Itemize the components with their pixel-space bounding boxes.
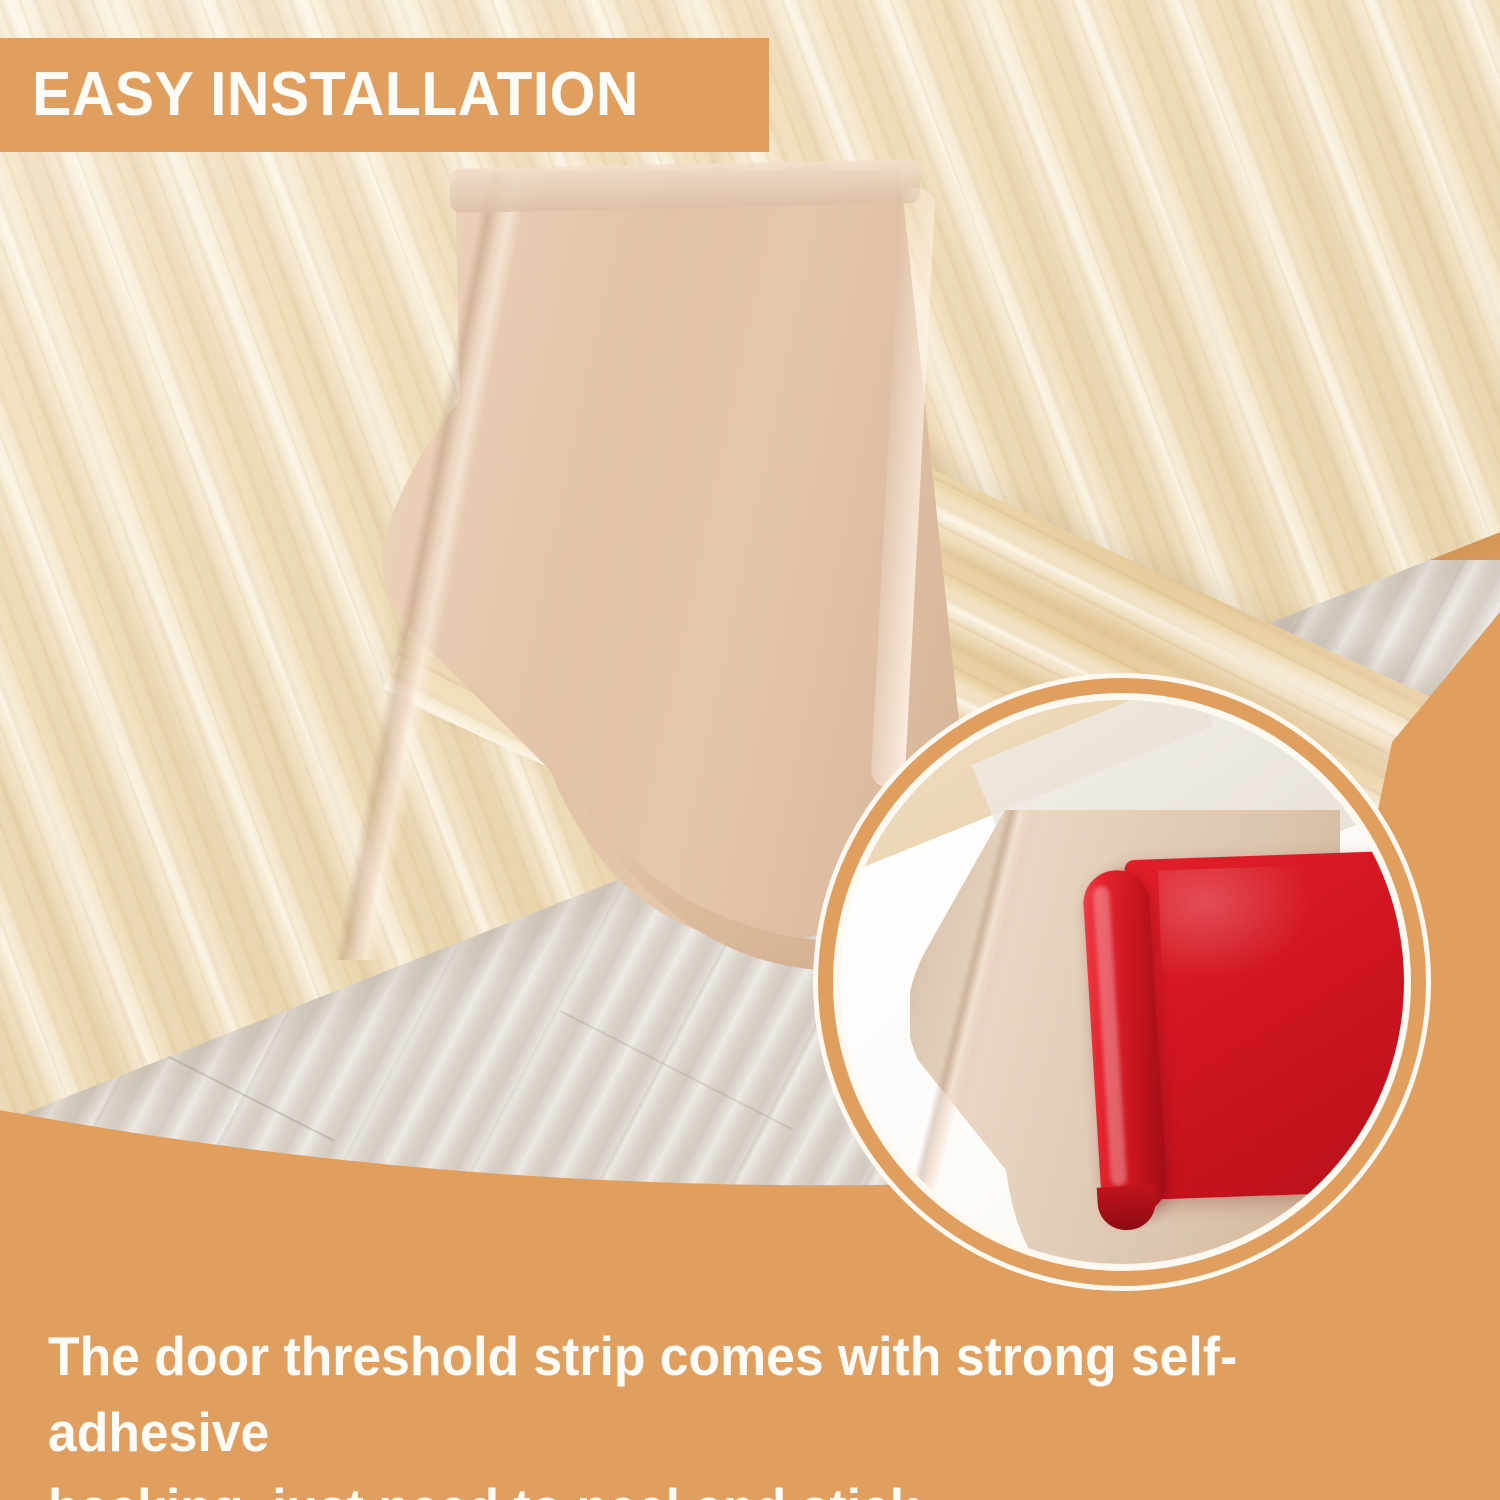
caption-line-2: backing, just need to peel and stick. xyxy=(48,1470,1373,1500)
product-feature-image: EASY INSTALLATION The door threshold str… xyxy=(0,0,1500,1500)
closeup-inset-ring xyxy=(818,678,1426,1286)
headline-title: EASY INSTALLATION xyxy=(32,64,639,126)
red-adhesive-liner-sheen xyxy=(1158,865,1312,980)
caption-text: The door threshold strip comes with stro… xyxy=(48,1318,1373,1500)
caption-line-1: The door threshold strip comes with stro… xyxy=(48,1325,1237,1463)
headline-banner: EASY INSTALLATION xyxy=(0,38,769,152)
closeup-inset-photo xyxy=(840,700,1404,1264)
